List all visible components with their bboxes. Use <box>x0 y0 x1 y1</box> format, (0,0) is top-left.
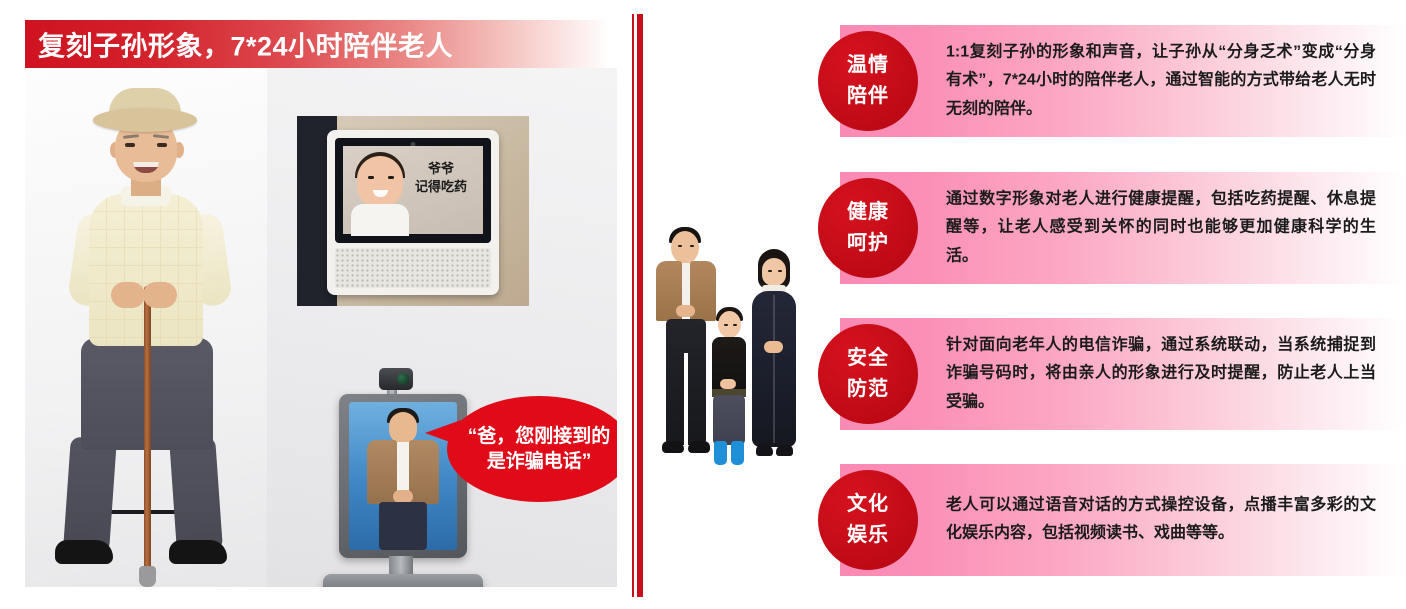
page-title: 复刻子孙形象，7*24小时陪伴老人 <box>38 25 453 64</box>
family-illustration <box>650 215 810 475</box>
divider-thin-line <box>632 14 634 597</box>
feature-description: 1:1复刻子孙的形象和声音，让子孙从“分身乏术”变成“分身有术”，7*24小时的… <box>946 38 1376 123</box>
feature-body: 老人可以通过语音对话的方式操控设备，点播丰富多彩的文化娱乐内容，包括视频读书、戏… <box>946 497 1376 542</box>
feature-badge[interactable]: 温情 陪伴 <box>818 31 918 131</box>
feature-badge-line1: 温情 <box>847 50 889 81</box>
feature-badge[interactable]: 健康 呵护 <box>818 178 918 278</box>
feature-row: 文化 娱乐 老人可以通过语音对话的方式操控设备，点播丰富多彩的文化娱乐内容，包括… <box>818 464 1406 576</box>
smart-display-device: 爷爷 记得吃药 <box>297 116 529 306</box>
vertical-divider <box>632 14 646 597</box>
feature-description: 通过数字形象对老人进行健康提醒，包括吃药提醒、休息提醒等，让老人感受到关怀的同时… <box>946 185 1376 270</box>
family-member-man <box>654 223 716 473</box>
smart-display-message-line1: 爷爷 <box>405 160 477 178</box>
feature-badge-line2: 防范 <box>847 374 889 405</box>
feature-row: 安全 防范 针对面向老年人的电信诈骗，通过系统联动，当系统捕捉到诈骗号码时，将由… <box>818 318 1406 430</box>
feature-badge[interactable]: 文化 娱乐 <box>818 470 918 570</box>
speech-bubble: “爸，您刚接到的是诈骗电话” <box>447 396 617 502</box>
elderly-man-illustration <box>47 86 252 581</box>
photo-collage: 爷爷 记得吃药 <box>25 68 617 587</box>
feature-list: 温情 陪伴 1:1复刻子孙的形象和声音，让子孙从“分身乏术”变成“分身有术”，7… <box>818 0 1406 609</box>
feature-row: 健康 呵护 通过数字形象对老人进行健康提醒，包括吃药提醒、休息提醒等，让老人感受… <box>818 172 1406 284</box>
feature-badge-line2: 陪伴 <box>847 81 889 112</box>
feature-badge-line2: 呵护 <box>847 228 889 259</box>
feature-description: 针对面向老年人的电信诈骗，通过系统联动，当系统捕捉到诈骗号码时，将由亲人的形象进… <box>946 331 1376 416</box>
feature-body: 复刻子孙的形象和声音，让子孙从“分身乏术”变成“分身有术”，7*24小时的陪伴老… <box>946 43 1376 117</box>
left-showcase-panel: 复刻子孙形象，7*24小时陪伴老人 <box>0 0 620 609</box>
feature-lead: 1:1 <box>946 43 969 60</box>
family-member-woman <box>746 249 802 471</box>
feature-badge-line1: 健康 <box>847 197 889 228</box>
title-banner: 复刻子孙形象，7*24小时陪伴老人 <box>25 20 610 68</box>
feature-badge-line1: 安全 <box>847 343 889 374</box>
feature-badge-line1: 文化 <box>847 489 889 520</box>
smart-display-message: 爷爷 记得吃药 <box>405 160 477 195</box>
smart-display-message-line2: 记得吃药 <box>405 178 477 196</box>
feature-body: 通过数字形象对老人进行健康提醒，包括吃药提醒、休息提醒等，让老人感受到关怀的同时… <box>946 190 1376 264</box>
divider-thick-line <box>637 14 643 597</box>
family-member-child <box>708 307 750 471</box>
speech-bubble-text: “爸，您刚接到的是诈骗电话” <box>463 424 615 474</box>
feature-row: 温情 陪伴 1:1复刻子孙的形象和声音，让子孙从“分身乏术”变成“分身有术”，7… <box>818 25 1406 137</box>
feature-body: 针对面向老年人的电信诈骗，通过系统联动，当系统捕捉到诈骗号码时，将由亲人的形象进… <box>946 336 1376 410</box>
feature-description: 老人可以通过语音对话的方式操控设备，点播丰富多彩的文化娱乐内容，包括视频读书、戏… <box>946 492 1376 549</box>
feature-badge[interactable]: 安全 防范 <box>818 324 918 424</box>
feature-badge-line2: 娱乐 <box>847 520 889 551</box>
